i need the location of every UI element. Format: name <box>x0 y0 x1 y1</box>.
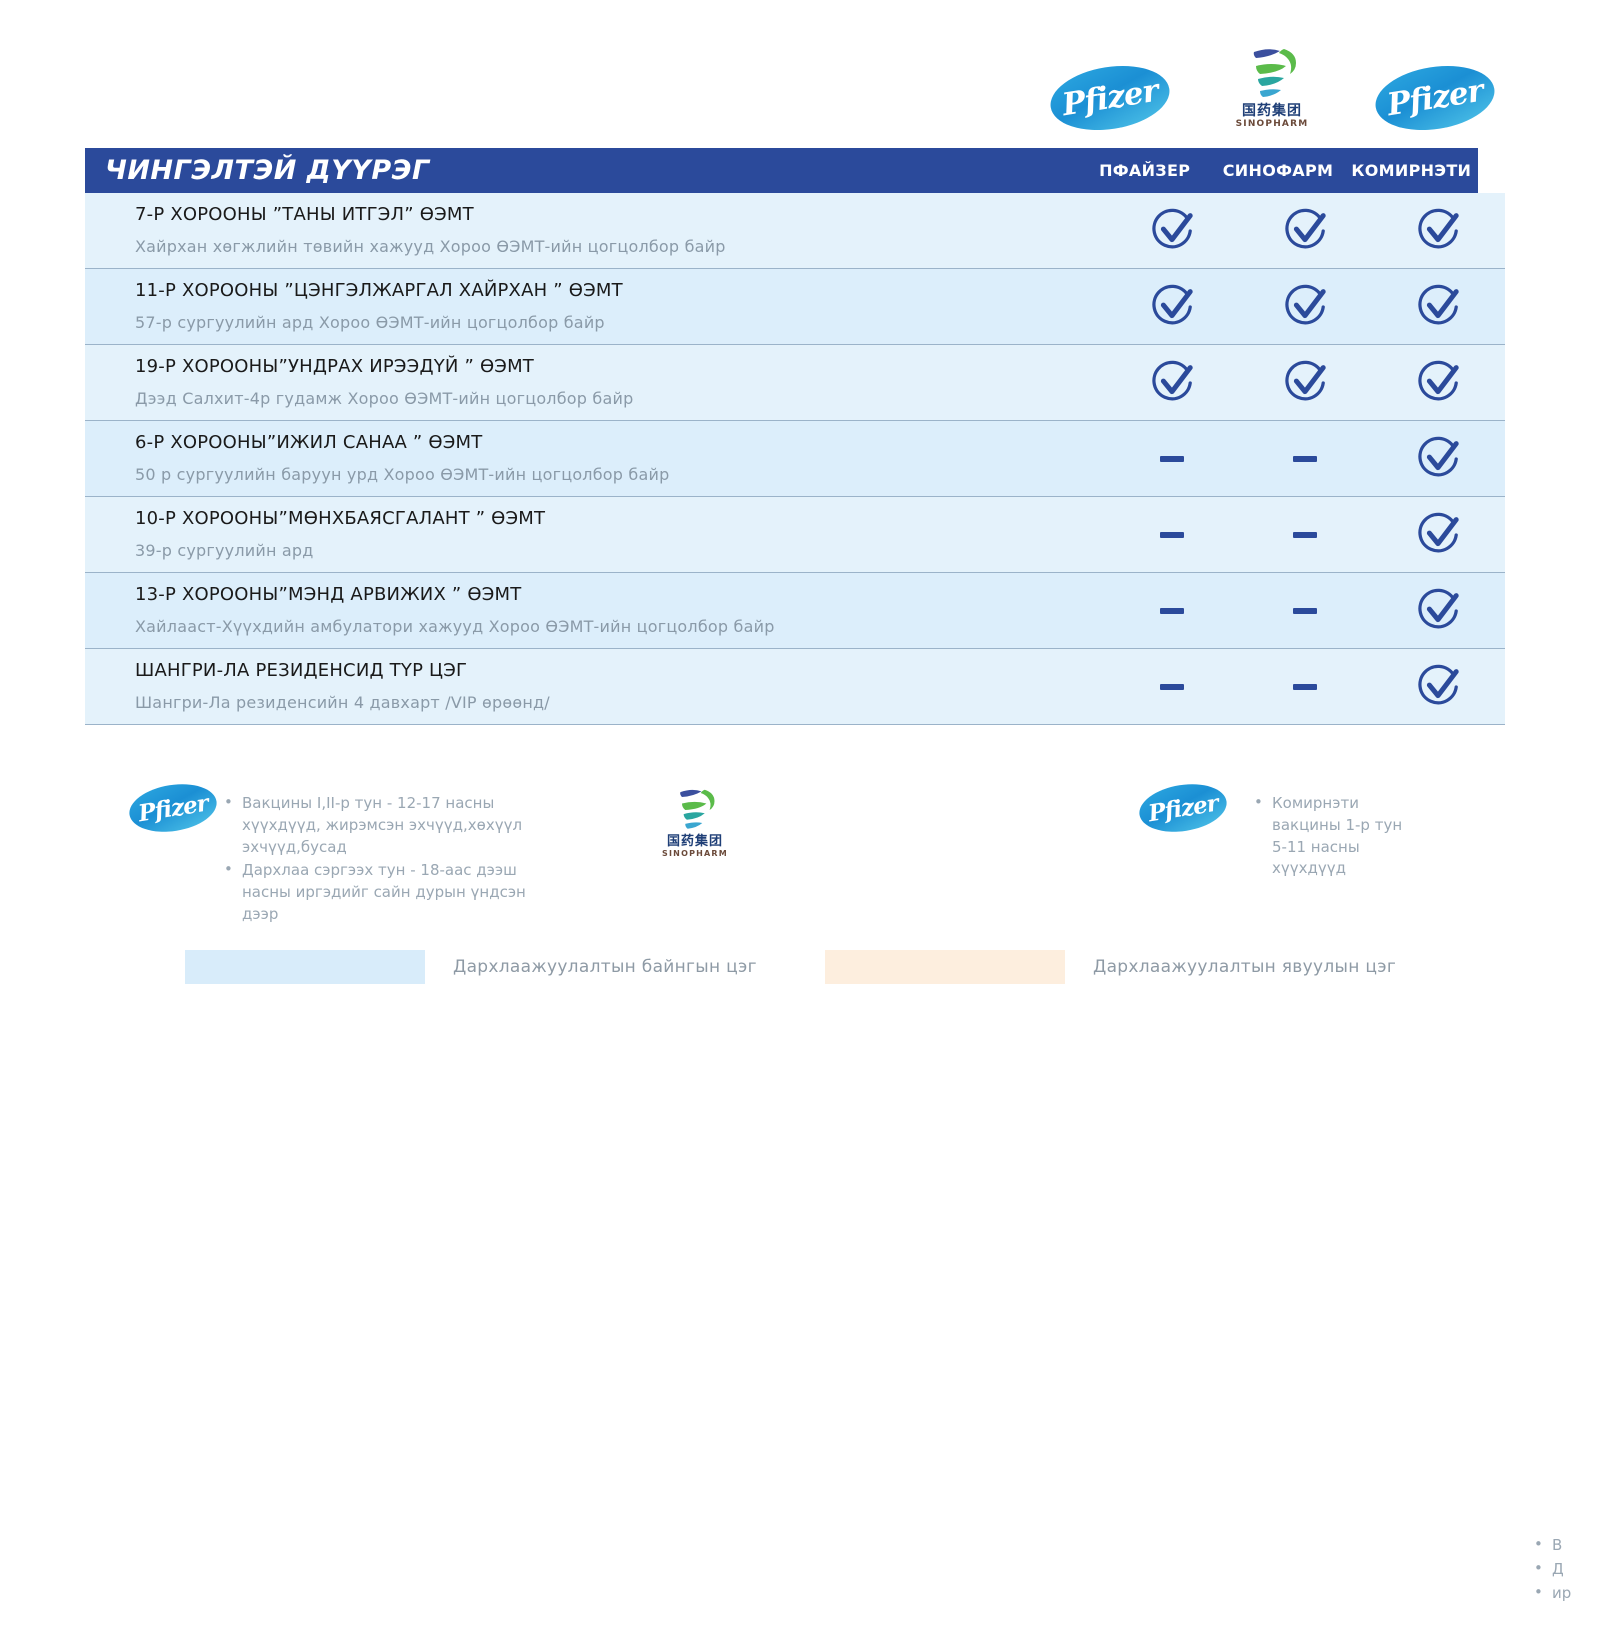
point-address: Хайрхан хөгжлийн төвийн хажууд Хороо ӨЭМ… <box>135 237 1105 257</box>
dash-icon <box>1293 608 1317 614</box>
point-address: 50 р сургуулийн баруун урд Хороо ӨЭМТ-ий… <box>135 465 1105 485</box>
sinopharm-mark-icon <box>669 787 721 833</box>
clipped-text-fragment: ир <box>1530 1583 1600 1605</box>
pfizer-logo: Pfizer <box>1375 67 1495 129</box>
point-name: 13-Р ХОРООНЫ”МЭНД АРВИЖИХ ” ӨЭМТ <box>135 584 1105 607</box>
legend-swatches: Дархлаажуулалтын байнгын цэг Дархлаажуул… <box>0 950 1600 990</box>
column-logos: Pfizer 国药集团 SINOPHARM Pfizer <box>1040 50 1505 145</box>
check-circle-icon <box>1415 664 1461 710</box>
check-circle-icon <box>1282 284 1328 330</box>
sinopharm-mark-icon <box>1240 46 1304 102</box>
pfizer-footnote-list: Вакцины I,II-р тун - 12-17 насны хүүхдүү… <box>220 793 545 928</box>
dash-icon <box>1160 608 1184 614</box>
mark-cell-sinopharm <box>1238 193 1371 268</box>
point-name: 11-Р ХОРООНЫ ”ЦЭНГЭЛЖАРГАЛ ХАЙРХАН ” ӨЭМ… <box>135 280 1105 303</box>
point-name: 19-Р ХОРООНЫ”УНДРАХ ИРЭЭДҮЙ ” ӨЭМТ <box>135 356 1105 379</box>
table-row: 10-Р ХОРООНЫ”МӨНХБАЯСГАЛАНТ ” ӨЭМТ39-р с… <box>85 497 1505 573</box>
check-circle-icon <box>1282 208 1328 254</box>
dash-icon <box>1293 456 1317 462</box>
point-name: ШАНГРИ-ЛА РЕЗИДЕНСИД ТҮР ЦЭГ <box>135 660 1105 683</box>
mark-cell-comirnaty <box>1372 345 1505 420</box>
mark-cell-sinopharm <box>1238 269 1371 344</box>
sinopharm-logo: 国药集团 SINOPHARM <box>640 787 750 879</box>
pfizer-logo-column-1: Pfizer <box>1040 50 1180 145</box>
check-circle-icon <box>1415 284 1461 330</box>
sinopharm-english-name: SINOPHARM <box>1236 120 1309 129</box>
legend-label: Дархлаажуулалтын байнгын цэг <box>453 957 757 977</box>
vaccination-points-table: ЧИНГЭЛТЭЙ ДҮҮРЭГ ПФАЙЗЕР СИНОФАРМ КОМИРН… <box>85 148 1505 725</box>
mark-cell-pfizer <box>1105 573 1238 648</box>
point-address: Хайлааст-Хүүхдийн амбулатори хажууд Хоро… <box>135 617 1105 637</box>
vaccination-points-poster: Pfizer 国药集团 SINOPHARM Pfizer <box>0 0 1600 1066</box>
mark-cell-comirnaty <box>1372 421 1505 496</box>
sinopharm-logo: 国药集团 SINOPHARM <box>1217 46 1327 138</box>
footnote-comirnaty: Pfizer Комирнэти вакцины 1-р тун 5-11 на… <box>1135 785 1465 882</box>
legend-color-swatch <box>825 950 1065 984</box>
clipped-footnote-right-edge: В Д ир <box>1530 1535 1600 1625</box>
table-row: ШАНГРИ-ЛА РЕЗИДЕНСИД ТҮР ЦЭГШангри-Ла ре… <box>85 649 1505 725</box>
check-circle-icon <box>1149 360 1195 406</box>
check-circle-icon <box>1415 360 1461 406</box>
list-item: Комирнэти вакцины 1-р тун 5-11 насны хүү… <box>1250 793 1420 880</box>
row-text-block: 13-Р ХОРООНЫ”МЭНД АРВИЖИХ ” ӨЭМТХайлааст… <box>85 573 1105 648</box>
pfizer-wordmark: Pfizer <box>1385 75 1485 121</box>
sinopharm-english-name: SINOPHARM <box>662 850 728 858</box>
comirnaty-footnote-list: Комирнэти вакцины 1-р тун 5-11 насны хүү… <box>1250 793 1420 882</box>
check-circle-icon <box>1415 588 1461 634</box>
pfizer-logo: Pfizer <box>1050 67 1170 129</box>
pfizer-logo-column-3: Pfizer <box>1365 50 1505 145</box>
mark-cell-comirnaty <box>1372 269 1505 344</box>
point-address: Дээд Салхит-4р гудамж Хороо ӨЭМТ-ийн цог… <box>135 389 1105 409</box>
point-address: 39-р сургуулийн ард <box>135 541 1105 561</box>
mark-cell-sinopharm <box>1238 421 1371 496</box>
check-circle-icon <box>1415 512 1461 558</box>
footnote-pfizer: Pfizer Вакцины I,II-р тун - 12-17 насны … <box>125 785 545 928</box>
table-row: 7-Р ХОРООНЫ ”ТАНЫ ИТГЭЛ” ӨЭМТХайрхан хөг… <box>85 193 1505 269</box>
dash-icon <box>1160 456 1184 462</box>
check-circle-icon <box>1415 208 1461 254</box>
mark-cell-comirnaty <box>1372 193 1505 268</box>
point-name: 7-Р ХОРООНЫ ”ТАНЫ ИТГЭЛ” ӨЭМТ <box>135 204 1105 227</box>
point-address: Шангри-Ла резиденсийн 4 давхарт /VIP өрө… <box>135 693 1105 713</box>
dash-icon <box>1293 684 1317 690</box>
row-marks <box>1105 193 1505 268</box>
row-marks <box>1105 497 1505 572</box>
column-header-sinopharm: СИНОФАРМ <box>1211 148 1344 193</box>
table-body: 7-Р ХОРООНЫ ”ТАНЫ ИТГЭЛ” ӨЭМТХайрхан хөг… <box>85 193 1505 725</box>
mark-cell-comirnaty <box>1372 573 1505 648</box>
column-header-pfizer: ПФАЙЗЕР <box>1078 148 1211 193</box>
row-text-block: 19-Р ХОРООНЫ”УНДРАХ ИРЭЭДҮЙ ” ӨЭМТДээд С… <box>85 345 1105 420</box>
pfizer-logo: Pfizer <box>1135 785 1230 831</box>
check-circle-icon <box>1149 208 1195 254</box>
table-header-bar: ЧИНГЭЛТЭЙ ДҮҮРЭГ ПФАЙЗЕР СИНОФАРМ КОМИРН… <box>85 148 1478 193</box>
point-address: 57-р сургуулийн ард Хороо ӨЭМТ-ийн цогцо… <box>135 313 1105 333</box>
row-text-block: 10-Р ХОРООНЫ”МӨНХБАЯСГАЛАНТ ” ӨЭМТ39-р с… <box>85 497 1105 572</box>
pfizer-wordmark: Pfizer <box>1146 791 1218 825</box>
row-marks <box>1105 345 1505 420</box>
district-title: ЧИНГЭЛТЭЙ ДҮҮРЭГ <box>105 148 430 193</box>
mark-cell-pfizer <box>1105 421 1238 496</box>
legend-color-swatch <box>185 950 425 984</box>
check-circle-icon <box>1415 436 1461 482</box>
vaccine-column-headers: ПФАЙЗЕР СИНОФАРМ КОМИРНЭТИ <box>1078 148 1478 193</box>
mark-cell-pfizer <box>1105 345 1238 420</box>
row-text-block: 7-Р ХОРООНЫ ”ТАНЫ ИТГЭЛ” ӨЭМТХайрхан хөг… <box>85 193 1105 268</box>
legend-permanent-point: Дархлаажуулалтын байнгын цэг <box>185 950 757 984</box>
sinopharm-chinese-name: 国药集团 <box>1242 104 1302 118</box>
mark-cell-comirnaty <box>1372 649 1505 724</box>
check-circle-icon <box>1149 284 1195 330</box>
point-name: 10-Р ХОРООНЫ”МӨНХБАЯСГАЛАНТ ” ӨЭМТ <box>135 508 1105 531</box>
sinopharm-logo-column-2: 国药集团 SINOPHARM <box>1202 44 1342 139</box>
row-text-block: 6-Р ХОРООНЫ”ИЖИЛ САНАА ” ӨЭМТ50 р сургуу… <box>85 421 1105 496</box>
pfizer-wordmark: Pfizer <box>1060 75 1160 121</box>
row-marks <box>1105 269 1505 344</box>
point-name: 6-Р ХОРООНЫ”ИЖИЛ САНАА ” ӨЭМТ <box>135 432 1105 455</box>
dash-icon <box>1293 532 1317 538</box>
list-item: Вакцины I,II-р тун - 12-17 насны хүүхдүү… <box>220 793 545 858</box>
mark-cell-pfizer <box>1105 497 1238 572</box>
column-header-comirnaty: КОМИРНЭТИ <box>1345 148 1478 193</box>
row-text-block: 11-Р ХОРООНЫ ”ЦЭНГЭЛЖАРГАЛ ХАЙРХАН ” ӨЭМ… <box>85 269 1105 344</box>
mark-cell-sinopharm <box>1238 345 1371 420</box>
pfizer-wordmark: Pfizer <box>136 791 208 825</box>
legend-label: Дархлаажуулалтын явуулын цэг <box>1093 957 1396 977</box>
mark-cell-comirnaty <box>1372 497 1505 572</box>
mark-cell-pfizer <box>1105 193 1238 268</box>
row-marks <box>1105 573 1505 648</box>
mark-cell-sinopharm <box>1238 573 1371 648</box>
table-row: 19-Р ХОРООНЫ”УНДРАХ ИРЭЭДҮЙ ” ӨЭМТДээд С… <box>85 345 1505 421</box>
mark-cell-sinopharm <box>1238 497 1371 572</box>
table-row: 6-Р ХОРООНЫ”ИЖИЛ САНАА ” ӨЭМТ50 р сургуу… <box>85 421 1505 497</box>
list-item: Д <box>1530 1559 1600 1581</box>
pfizer-logo: Pfizer <box>125 785 220 831</box>
row-marks <box>1105 649 1505 724</box>
list-item: В <box>1530 1535 1600 1557</box>
table-row: 11-Р ХОРООНЫ ”ЦЭНГЭЛЖАРГАЛ ХАЙРХАН ” ӨЭМ… <box>85 269 1505 345</box>
dash-icon <box>1160 684 1184 690</box>
row-text-block: ШАНГРИ-ЛА РЕЗИДЕНСИД ТҮР ЦЭГШангри-Ла ре… <box>85 649 1105 724</box>
mark-cell-pfizer <box>1105 649 1238 724</box>
legend-mobile-point: Дархлаажуулалтын явуулын цэг <box>825 950 1396 984</box>
table-row: 13-Р ХОРООНЫ”МЭНД АРВИЖИХ ” ӨЭМТХайлааст… <box>85 573 1505 649</box>
footnotes-area: Pfizer Вакцины I,II-р тун - 12-17 насны … <box>0 775 1600 895</box>
dash-icon <box>1160 532 1184 538</box>
clipped-footnote-list: В Д ир <box>1530 1535 1600 1604</box>
mark-cell-pfizer <box>1105 269 1238 344</box>
mark-cell-sinopharm <box>1238 649 1371 724</box>
row-marks <box>1105 421 1505 496</box>
check-circle-icon <box>1282 360 1328 406</box>
list-item: Дархлаа сэргээх тун - 18-аас дээш насны … <box>220 860 545 925</box>
sinopharm-chinese-name: 国药集团 <box>667 835 723 848</box>
